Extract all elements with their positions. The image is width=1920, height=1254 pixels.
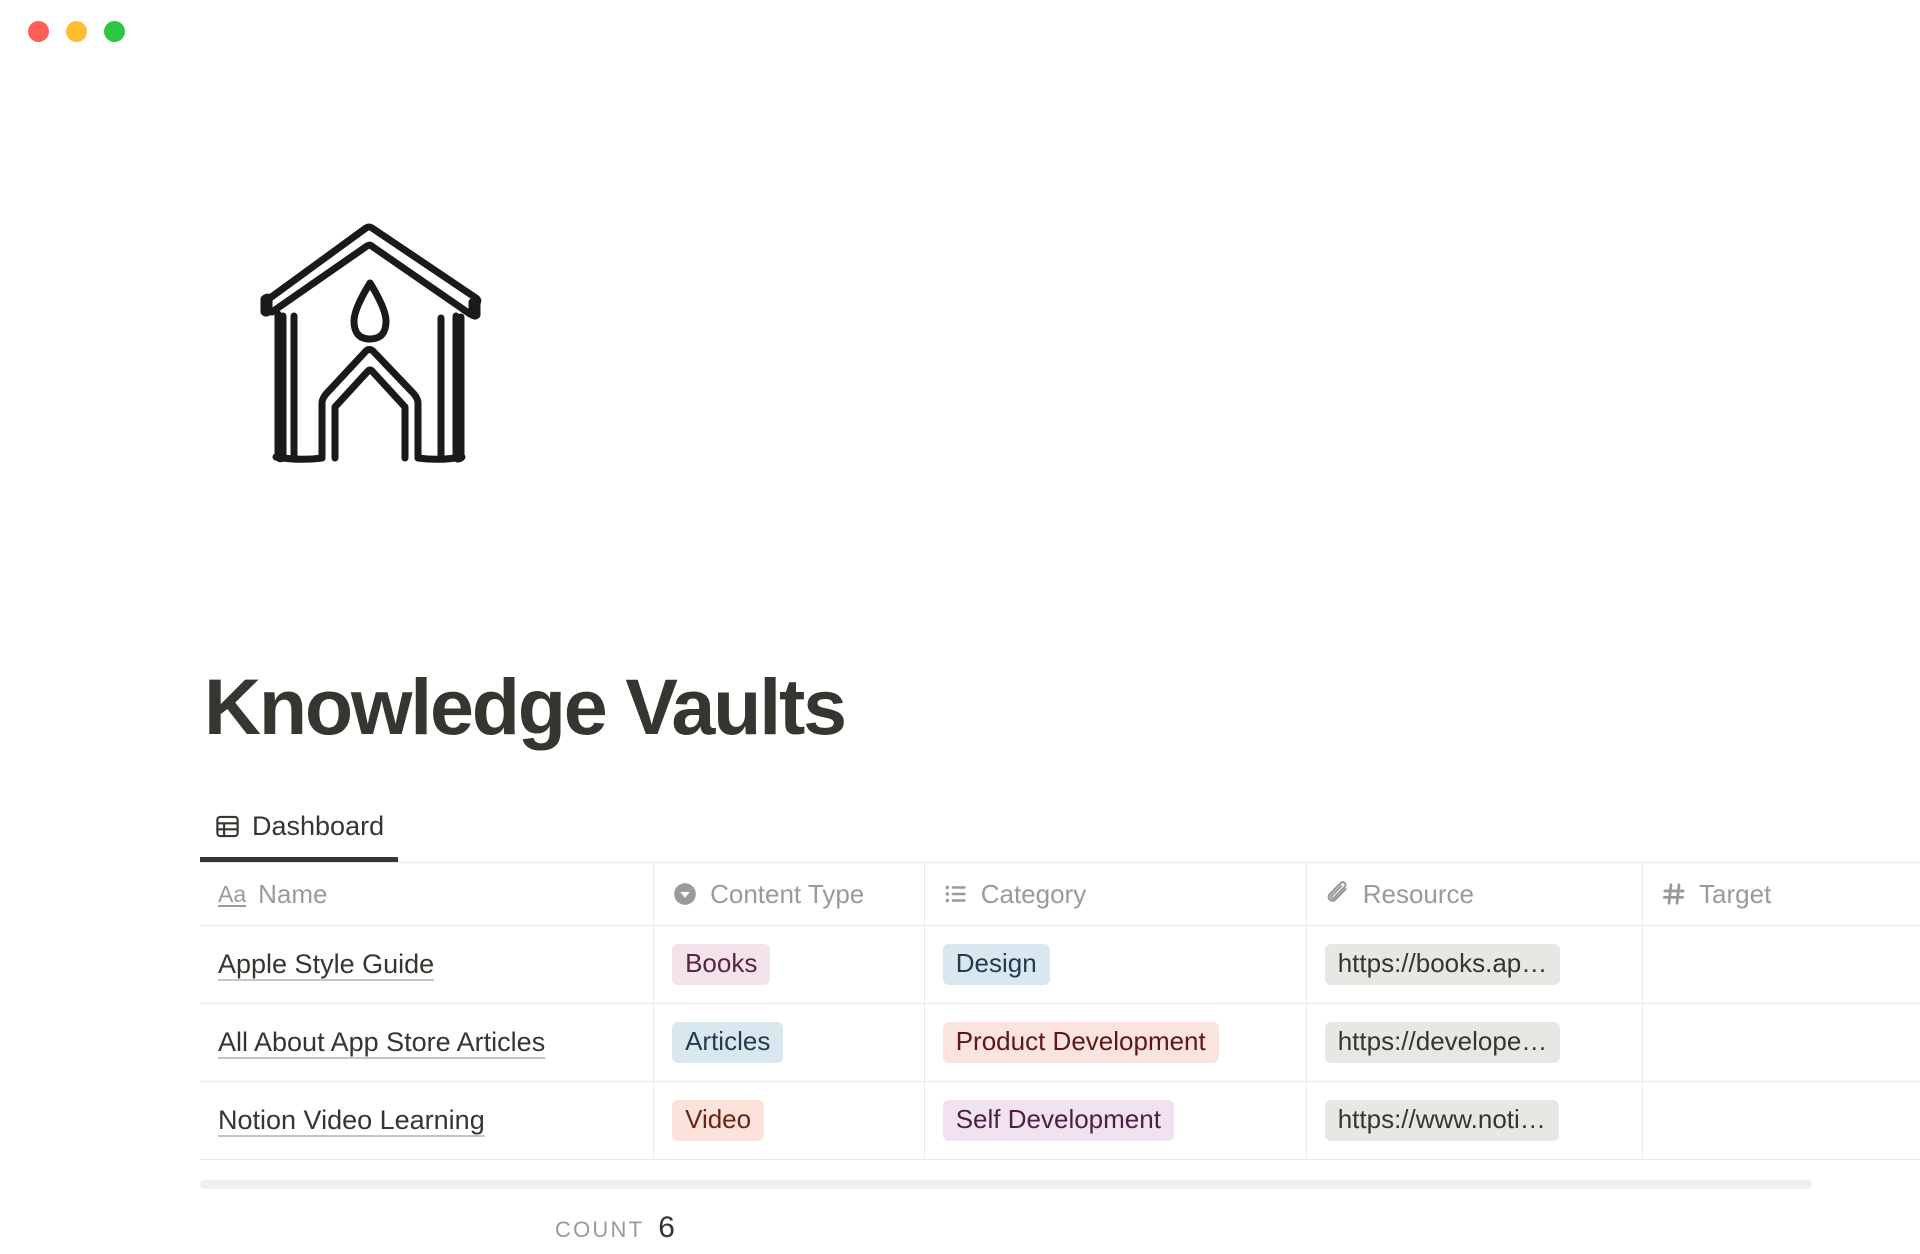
resource-url-pill[interactable]: https://books.ap… — [1325, 944, 1561, 986]
column-header-target-label: Target — [1699, 879, 1771, 910]
row-title-link[interactable]: Notion Video Learning — [218, 1105, 485, 1136]
table-footer: COUNT 6 — [200, 1202, 1920, 1254]
cell-name[interactable]: All About App Store Articles — [200, 1004, 654, 1081]
maximize-window-button[interactable] — [104, 21, 125, 42]
database-table: Aa Name Content Type — [200, 862, 1920, 1160]
select-circle-chevron-icon — [672, 881, 698, 907]
cell-category[interactable]: Product Development — [925, 1004, 1307, 1081]
minimize-window-button[interactable] — [66, 21, 87, 42]
cell-category[interactable]: Self Development — [925, 1082, 1307, 1159]
window-titlebar — [0, 0, 1920, 62]
close-window-button[interactable] — [28, 21, 49, 42]
count-value: 6 — [658, 1211, 675, 1245]
text-aa-icon: Aa — [218, 883, 246, 906]
tab-dashboard[interactable]: Dashboard — [200, 796, 398, 862]
paperclip-icon — [1325, 881, 1351, 907]
resource-url-pill[interactable]: https://develope… — [1325, 1022, 1561, 1064]
cell-target[interactable] — [1643, 926, 1920, 1003]
column-header-content-type-label: Content Type — [710, 879, 864, 910]
table-row[interactable]: All About App Store Articles Articles Pr… — [200, 1004, 1920, 1082]
count-label: COUNT — [555, 1217, 644, 1243]
table-grid-icon — [214, 813, 241, 840]
count-summary[interactable]: COUNT 6 — [555, 1211, 675, 1245]
column-header-name[interactable]: Aa Name — [200, 863, 654, 925]
cell-content-type[interactable]: Articles — [654, 1004, 925, 1081]
house-drop-sketch-icon[interactable] — [250, 217, 490, 467]
tab-dashboard-label: Dashboard — [252, 811, 384, 842]
table-row[interactable]: Notion Video Learning Video Self Develop… — [200, 1082, 1920, 1160]
table-header-row: Aa Name Content Type — [200, 863, 1920, 926]
horizontal-scrollbar[interactable] — [200, 1180, 1812, 1189]
page-title: Knowledge Vaults — [204, 667, 845, 746]
cell-content-type[interactable]: Books — [654, 926, 925, 1003]
table-body: Apple Style Guide Books Design https://b… — [200, 926, 1920, 1160]
page-content: Knowledge Vaults Dashboard Aa Name — [0, 62, 1920, 1200]
cell-content-type[interactable]: Video — [654, 1082, 925, 1159]
column-header-category-label: Category — [981, 879, 1087, 910]
category-tag: Self Development — [943, 1100, 1174, 1142]
view-tab-bar: Dashboard — [200, 794, 1920, 862]
category-tag: Product Development — [943, 1022, 1219, 1064]
content-type-tag: Books — [672, 944, 770, 986]
cell-target[interactable] — [1643, 1082, 1920, 1159]
cell-name[interactable]: Apple Style Guide — [200, 926, 654, 1003]
row-title-link[interactable]: Apple Style Guide — [218, 949, 434, 980]
column-header-resource[interactable]: Resource — [1307, 863, 1643, 925]
cell-target[interactable] — [1643, 1004, 1920, 1081]
table-row[interactable]: Apple Style Guide Books Design https://b… — [200, 926, 1920, 1004]
resource-url-pill[interactable]: https://www.noti… — [1325, 1100, 1559, 1142]
content-type-tag: Video — [672, 1100, 764, 1142]
content-type-tag: Articles — [672, 1022, 783, 1064]
category-tag: Design — [943, 944, 1050, 986]
column-header-content-type[interactable]: Content Type — [654, 863, 925, 925]
cell-resource[interactable]: https://develope… — [1307, 1004, 1643, 1081]
column-header-name-label: Name — [258, 879, 327, 910]
row-title-link[interactable]: All About App Store Articles — [218, 1027, 545, 1058]
cell-resource[interactable]: https://www.noti… — [1307, 1082, 1643, 1159]
cell-category[interactable]: Design — [925, 926, 1307, 1003]
number-hash-icon — [1661, 881, 1687, 907]
cell-resource[interactable]: https://books.ap… — [1307, 926, 1643, 1003]
column-header-category[interactable]: Category — [925, 863, 1307, 925]
multi-select-list-icon — [943, 881, 969, 907]
column-header-resource-label: Resource — [1363, 879, 1474, 910]
traffic-light-group — [28, 21, 125, 42]
cell-name[interactable]: Notion Video Learning — [200, 1082, 654, 1159]
column-header-target[interactable]: Target — [1643, 863, 1920, 925]
